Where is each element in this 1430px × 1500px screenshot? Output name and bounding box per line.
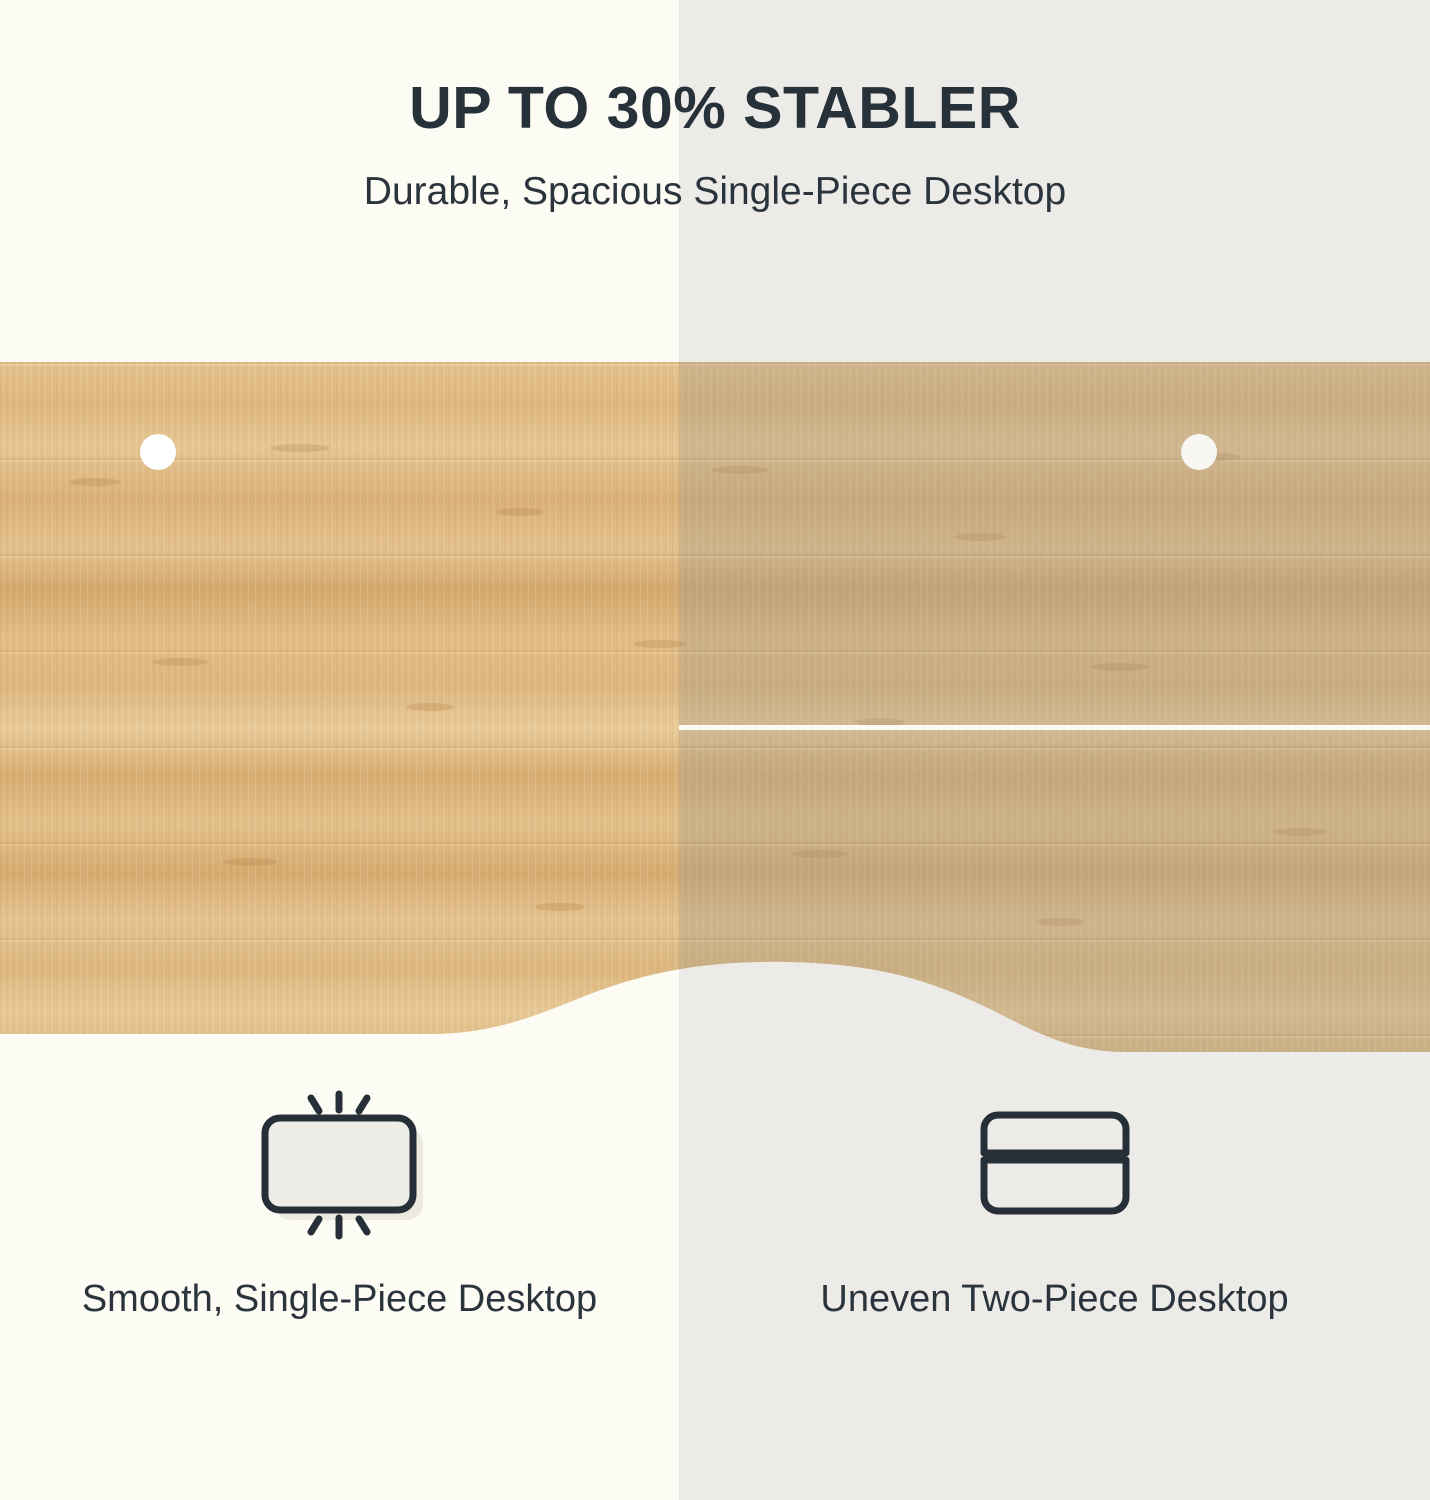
header-block: UP TO 30% STABLER Durable, Spacious Sing… <box>0 0 1430 211</box>
comparison-column-right: Uneven Two-Piece Desktop <box>679 1085 1430 1435</box>
shine-strokes-bottom <box>311 1218 367 1236</box>
single-piece-icon-area <box>245 1085 435 1255</box>
desktop-product-image <box>0 362 1430 1052</box>
comparison-caption-right: Uneven Two-Piece Desktop <box>820 1255 1288 1329</box>
comparison-caption-left: Smooth, Single-Piece Desktop <box>82 1255 597 1329</box>
comparison-row: Smooth, Single-Piece Desktop Uneven Two-… <box>0 1085 1430 1435</box>
grommet-hole-right <box>1181 434 1217 470</box>
grommet-hole-left <box>140 434 176 470</box>
right-half-tint <box>679 362 1430 1052</box>
panel-body <box>265 1118 413 1210</box>
desk-seam-line <box>679 725 1430 730</box>
shine-strokes-top <box>311 1094 367 1111</box>
desktop-illustration <box>0 362 1430 1052</box>
single-panel-shine-icon <box>245 1090 435 1250</box>
panel-top-half <box>984 1115 1126 1153</box>
two-piece-icon-area <box>960 1085 1150 1255</box>
desk-surface <box>0 362 1430 1052</box>
two-panel-stacked-icon <box>960 1090 1150 1250</box>
comparison-column-left: Smooth, Single-Piece Desktop <box>0 1085 679 1435</box>
page-subtitle: Durable, Spacious Single-Piece Desktop <box>0 138 1430 211</box>
infographic-canvas: UP TO 30% STABLER Durable, Spacious Sing… <box>0 0 1430 1500</box>
page-title: UP TO 30% STABLER <box>0 0 1430 138</box>
panel-bottom-half <box>984 1160 1126 1211</box>
